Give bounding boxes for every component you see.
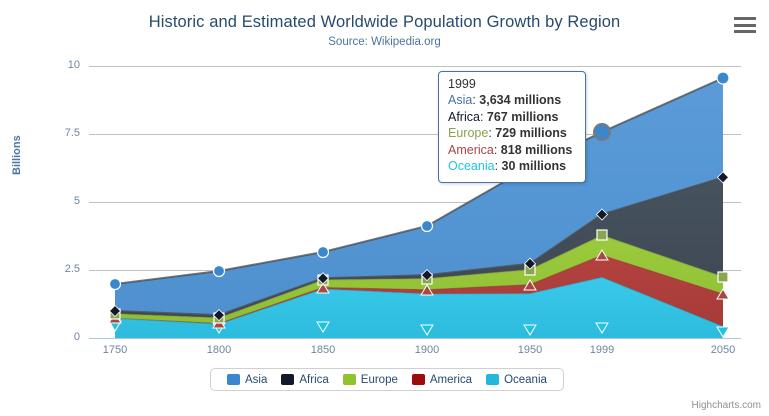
y-tick-10: 10 (34, 59, 80, 71)
legend-swatch-africa-icon (281, 374, 294, 385)
y-tick-2-5: 2.5 (34, 263, 80, 275)
tooltip-series-name-america: America (448, 143, 494, 157)
legend-label-oceania: Oceania (504, 374, 547, 386)
legend-item-europe[interactable]: Europe (343, 374, 398, 386)
tooltip-row-europe: Europe: 729 millions (448, 125, 576, 142)
credits-link[interactable]: Highcharts.com (692, 400, 761, 411)
legend-label-europe: Europe (361, 374, 398, 386)
x-tick-1800: 1800 (189, 344, 249, 356)
tooltip-value-europe: 729 millions (495, 126, 567, 140)
legend-item-america[interactable]: America (412, 374, 472, 386)
tooltip-sep-oceania: : (495, 159, 502, 173)
x-tick-1900: 1900 (397, 344, 457, 356)
tooltip-value-america: 818 millions (501, 143, 573, 157)
y-tick-5: 5 (34, 195, 80, 207)
tooltip-series-name-africa: Africa (448, 110, 480, 124)
x-tick-1950: 1950 (500, 344, 560, 356)
legend: Asia Africa Europe America Oceania (210, 368, 564, 391)
tooltip-sep-america: : (494, 143, 501, 157)
legend-item-oceania[interactable]: Oceania (486, 374, 547, 386)
legend-swatch-oceania-icon (486, 374, 499, 385)
tooltip-row-asia: Asia: 3,634 millions (448, 92, 576, 109)
legend-item-asia[interactable]: Asia (227, 374, 267, 386)
tooltip-value-africa: 767 millions (487, 110, 559, 124)
tooltip-series-name-oceania: Oceania (448, 159, 495, 173)
y-tick-0: 0 (34, 331, 80, 343)
legend-swatch-america-icon (412, 374, 425, 385)
tooltip-row-america: America: 818 millions (448, 142, 576, 159)
y-tick-7-5: 7.5 (34, 127, 80, 139)
legend-swatch-asia-icon (227, 374, 240, 385)
x-tick-2050: 2050 (693, 344, 753, 356)
x-tick-1850: 1850 (293, 344, 353, 356)
tooltip-series-name-europe: Europe (448, 126, 488, 140)
tooltip-series-name-asia: Asia (448, 93, 472, 107)
legend-item-africa[interactable]: Africa (281, 374, 328, 386)
x-tick-1750: 1750 (85, 344, 145, 356)
tooltip-row-africa: Africa: 767 millions (448, 109, 576, 126)
tooltip-row-oceania: Oceania: 30 millions (448, 158, 576, 175)
highcharts-chart: Historic and Estimated Worldwide Populat… (0, 0, 769, 416)
tooltip-value-oceania: 30 millions (502, 159, 567, 173)
tooltip-sep-africa: : (480, 110, 487, 124)
legend-label-africa: Africa (299, 374, 328, 386)
tooltip-value-asia: 3,634 millions (479, 93, 561, 107)
legend-label-asia: Asia (245, 374, 267, 386)
legend-swatch-europe-icon (343, 374, 356, 385)
tooltip: 1999 Asia: 3,634 millions Africa: 767 mi… (438, 71, 586, 183)
x-tick-1999: 1999 (572, 344, 632, 356)
legend-label-america: America (430, 374, 472, 386)
y-axis-title: Billions (11, 135, 23, 175)
tooltip-header: 1999 (448, 77, 576, 91)
